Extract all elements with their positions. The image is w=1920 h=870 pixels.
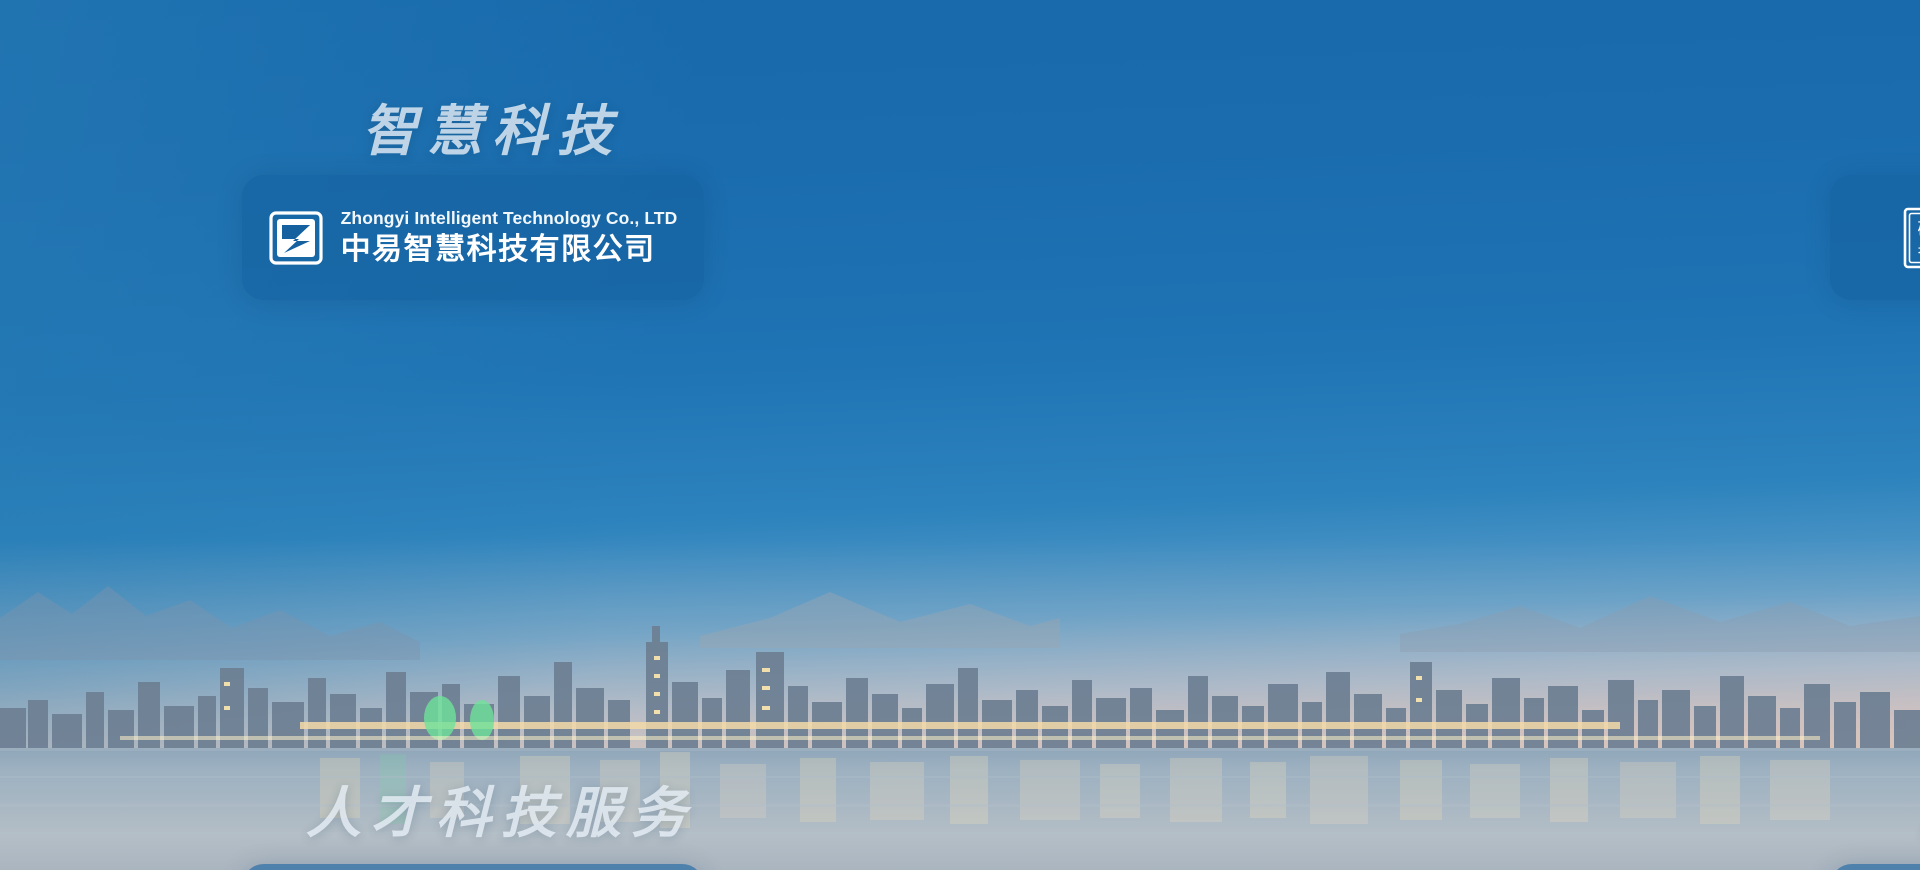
segment-cell-talent-services: 人才科技服务 NY Any techno <box>0 380 960 760</box>
company-names-zhongyi: Zhongyi Intelligent Technology Co., LTD … <box>341 208 678 267</box>
segment-grid: 智慧科技 Zhongyi Intelligent Technology Co.,… <box>0 0 1920 870</box>
segment-cell-real-estate: 房地产开发 Yanxiang real estate development C… <box>960 380 1920 760</box>
segment-cell-smart-technology: 智慧科技 Zhongyi Intelligent Technology Co.,… <box>0 0 960 380</box>
segment-title-talent-services: 人才科技服务 <box>306 786 696 841</box>
company-name-en: Zhongyi Intelligent Technology Co., LTD <box>341 208 678 228</box>
zhongyi-z-mark-icon <box>269 211 323 265</box>
banner-stage: 智慧科技 Zhongyi Intelligent Technology Co.,… <box>0 0 1920 870</box>
company-name-cn: 中易智慧科技有限公司 <box>341 233 678 267</box>
segment-title-smart-technology: 智慧科技 <box>362 104 622 159</box>
segment-cell-fmcg: 快消品 硯 香 ® Yanxiang trading Co., LTD <box>960 0 1920 380</box>
company-card-yanxiang-trading[interactable]: 硯 香 ® Yanxiang trading Co., LTD 砚香贸易有限公司 <box>1830 175 1920 300</box>
company-card-yanxiang-real-estate[interactable]: Yanxiang real estate development Co. LTD… <box>1830 864 1920 870</box>
yanxiang-seal-mark-icon: 硯 香 ® <box>1903 207 1920 269</box>
company-card-zhongyi[interactable]: Zhongyi Intelligent Technology Co., LTD … <box>242 175 704 300</box>
company-card-any[interactable]: NY Any technology development Co., LTD 艾… <box>242 864 704 870</box>
